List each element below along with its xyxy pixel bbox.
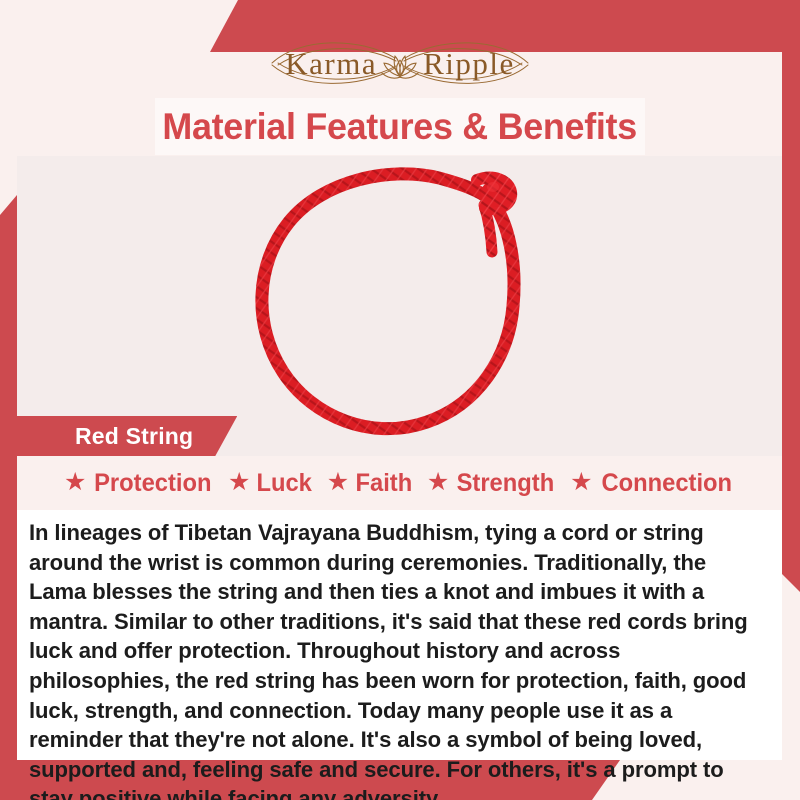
brand-name-right: Ripple — [423, 46, 515, 82]
feature-item-strength: ★ Strength — [423, 469, 561, 498]
page-title: Material Features & Benefits — [163, 106, 638, 148]
feature-item-protection: ★ Protection — [60, 469, 219, 498]
material-ribbon-label: Red String — [17, 416, 237, 456]
feature-label: Protection — [94, 469, 211, 498]
star-icon: ★ — [427, 470, 449, 495]
feature-label: Connection — [601, 469, 732, 498]
brand-name-left: Karma — [285, 46, 377, 82]
product-hero-section — [17, 156, 782, 456]
description-panel: In lineages of Tibetan Vajrayana Buddhis… — [17, 510, 782, 760]
feature-list: ★ Protection ★ Luck ★ Faith ★ Strength ★… — [17, 456, 782, 510]
feature-label: Luck — [257, 469, 312, 498]
feature-item-faith: ★ Faith — [323, 469, 418, 498]
feature-label: Faith — [356, 469, 413, 498]
red-braided-string-bracelet-image — [241, 160, 559, 452]
star-icon: ★ — [64, 470, 86, 495]
brand-logo: Karma Ripple — [0, 33, 800, 95]
star-icon: ★ — [570, 470, 592, 495]
feature-item-luck: ★ Luck — [224, 469, 318, 498]
description-body: In lineages of Tibetan Vajrayana Buddhis… — [29, 518, 757, 800]
feature-label: Strength — [457, 469, 555, 498]
frame-accent-left — [0, 195, 17, 800]
headline-banner: Material Features & Benefits — [155, 98, 645, 155]
material-name: Red String — [75, 423, 193, 450]
infographic-canvas: Karma Ripple Material Features & Benefit… — [0, 0, 800, 800]
star-icon: ★ — [228, 470, 250, 495]
feature-item-connection: ★ Connection — [566, 469, 739, 498]
star-icon: ★ — [327, 470, 349, 495]
lotus-icon — [378, 50, 422, 80]
